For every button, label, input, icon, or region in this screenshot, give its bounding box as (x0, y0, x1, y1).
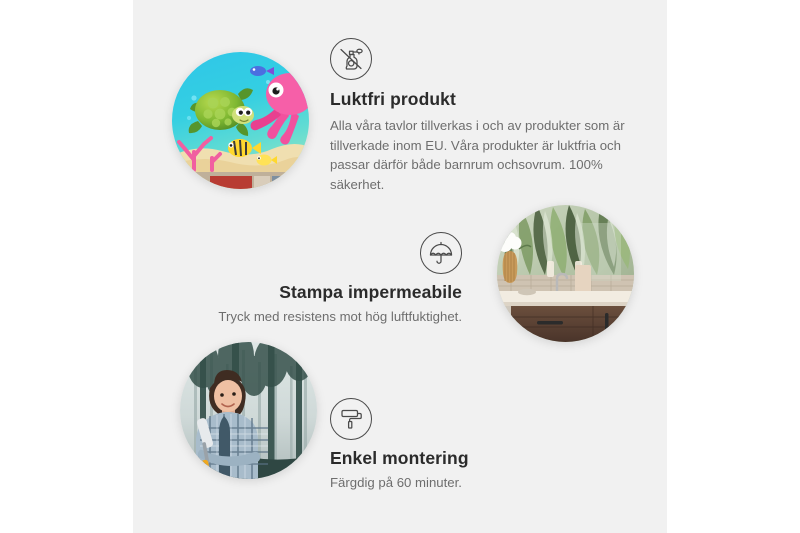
feature-block-waterproof: Stampa impermeabile Tryck med resistens … (162, 232, 462, 327)
forest-mural-installer-photo (180, 342, 317, 479)
feature-title-odourless: Luktfri produkt (330, 89, 630, 110)
paint-roller-icon (330, 398, 372, 440)
feature-description-odourless: Alla våra tavlor tillverkas i och av pro… (330, 116, 630, 194)
feature-infographic: Luktfri produkt Alla våra tavlor tillver… (0, 0, 800, 533)
bathroom-botanical-wallpaper-photo (497, 205, 634, 342)
feature-block-mounting: Enkel montering Färgdig på 60 minuter. (330, 398, 630, 493)
feature-description-mounting: Färgdig på 60 minuter. (330, 473, 630, 493)
underwater-kids-mural-photo (172, 52, 309, 189)
feature-description-waterproof: Tryck med resistens mot hög luftfuktighe… (162, 307, 462, 327)
feature-title-mounting: Enkel montering (330, 448, 630, 469)
no-odour-spray-bottle-icon (330, 38, 372, 80)
feature-title-waterproof: Stampa impermeabile (162, 282, 462, 303)
umbrella-icon (420, 232, 462, 274)
feature-block-odourless: Luktfri produkt Alla våra tavlor tillver… (330, 38, 630, 194)
